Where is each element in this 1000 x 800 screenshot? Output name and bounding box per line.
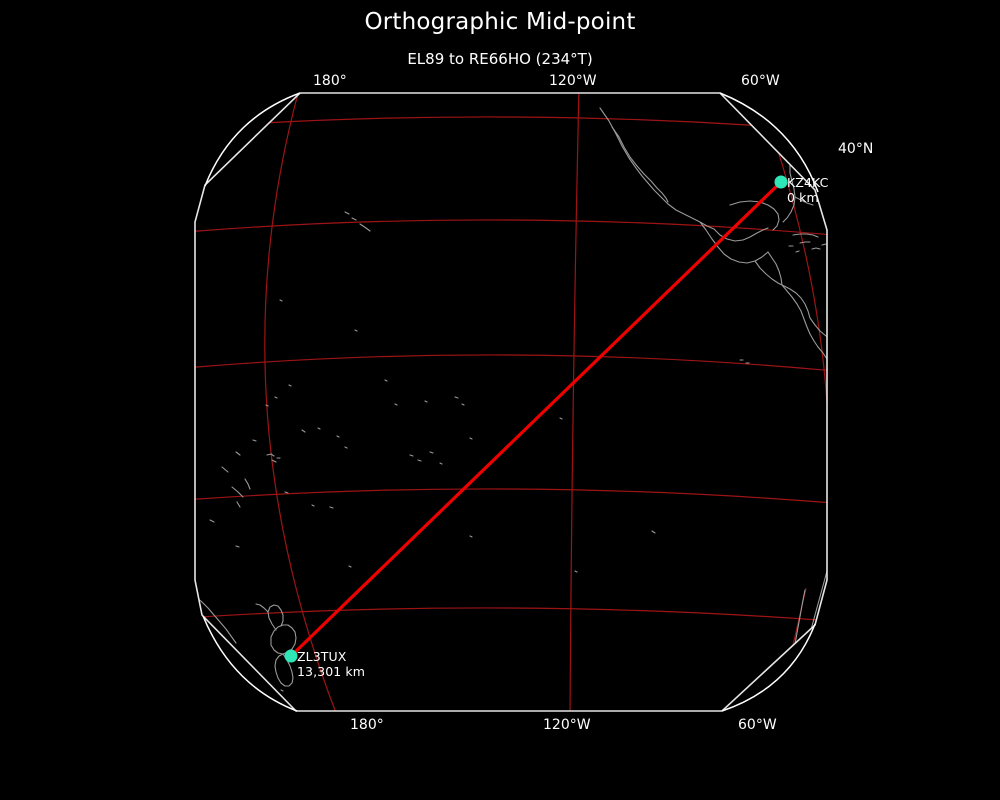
station-distance: 0 km	[787, 190, 828, 205]
axis-label-bottom-120w: 120°W	[543, 717, 591, 733]
axis-label-top-180: 180°	[313, 73, 347, 89]
axis-label-right-40n: 40°N	[838, 141, 873, 157]
station-callsign: KZ4KC	[787, 175, 828, 190]
station-marker-zl3tux[interactable]	[285, 650, 298, 663]
axis-label-bottom-60w: 60°W	[738, 717, 777, 733]
station-label-zl3tux: ZL3TUX 13,301 km	[297, 649, 365, 679]
orthographic-map	[0, 0, 1000, 800]
axis-label-top-120w: 120°W	[549, 73, 597, 89]
station-marker-kz4kc[interactable]	[775, 176, 788, 189]
axis-label-bottom-180: 180°	[350, 717, 384, 733]
axis-label-top-60w: 60°W	[741, 73, 780, 89]
station-callsign: ZL3TUX	[297, 649, 365, 664]
map-figure: Orthographic Mid-point EL89 to RE66HO (2…	[0, 0, 1000, 800]
map-interior	[185, 86, 845, 718]
station-label-kz4kc: KZ4KC 0 km	[787, 175, 828, 205]
station-distance: 13,301 km	[297, 664, 365, 679]
